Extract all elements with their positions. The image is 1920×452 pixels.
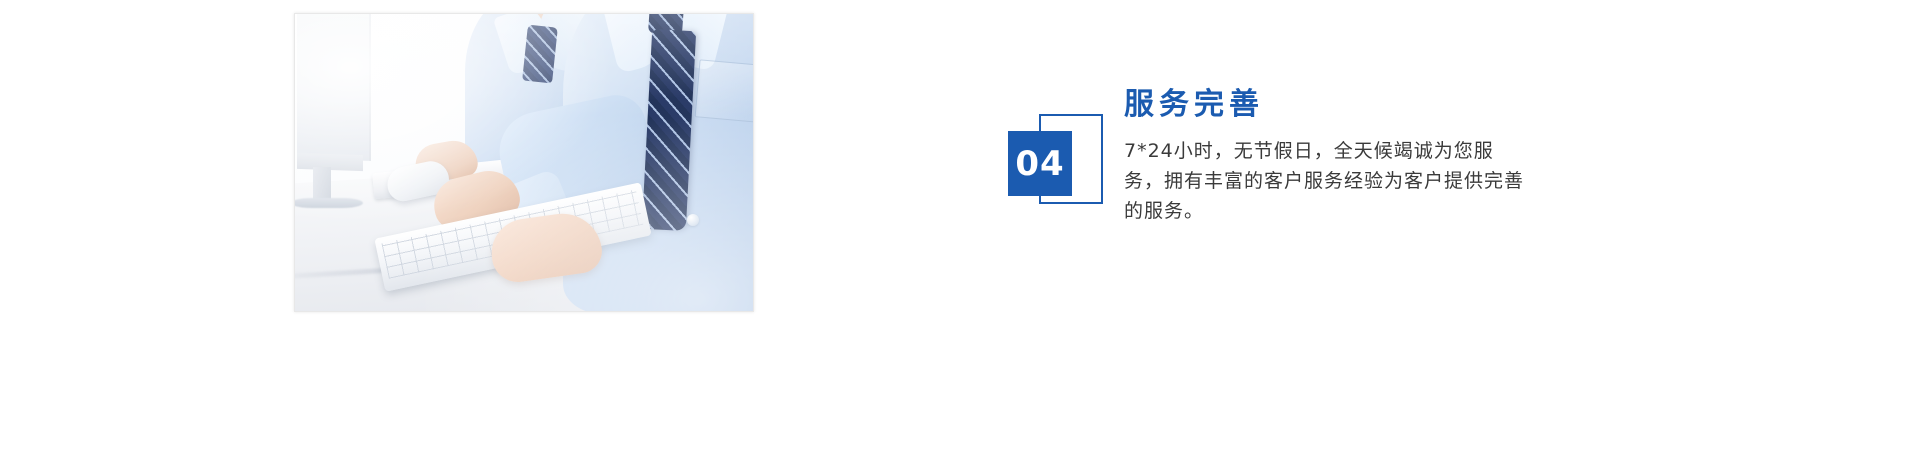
feature-photo-frame [294,13,754,312]
monitor-base [295,198,363,208]
feature-title: 服务完善 [1124,86,1554,124]
background-agent-necktie [522,25,558,84]
feature-description: 7*24小时，无节假日，全天候竭诚为您服务，拥有丰富的客户服务经验为客户提供完善… [1124,136,1524,226]
monitor-stand [313,167,331,201]
step-number-badge: 04 [1008,114,1104,206]
foreground-agent-cuff-button [687,214,699,226]
feature-text-column: 服务完善 7*24小时，无节假日，全天候竭诚为您服务，拥有丰富的客户服务经验为客… [1124,86,1554,226]
badge-filled-square: 04 [1008,131,1072,196]
feature-photo [295,14,753,311]
foreground-agent-shirt-pocket [695,59,753,122]
page-canvas: 04 服务完善 7*24小时，无节假日，全天候竭诚为您服务，拥有丰富的客户服务经… [0,0,1920,452]
badge-number-text: 04 [1015,147,1064,181]
monitor-screen [297,14,371,161]
